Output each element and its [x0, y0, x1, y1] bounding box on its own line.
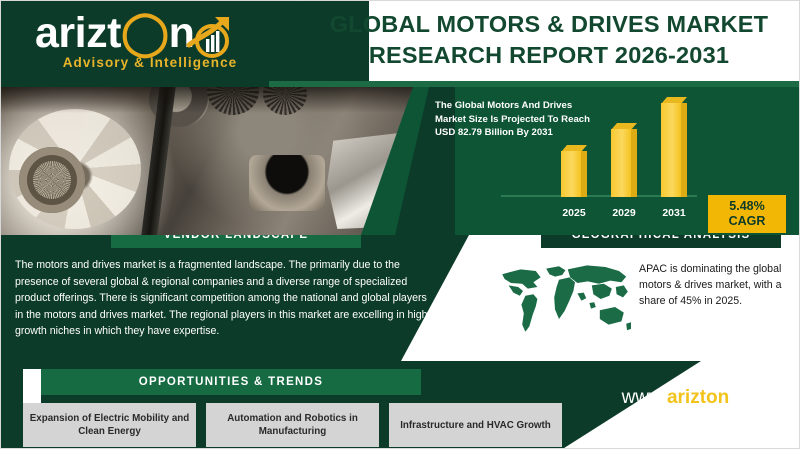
website-url[interactable]: www.arizton.com [601, 387, 791, 409]
opportunity-card[interactable]: Infrastructure and HVAC Growth [389, 403, 562, 447]
opportunity-cards: Expansion of Electric Mobility and Clean… [23, 403, 563, 447]
opportunity-card-label: Infrastructure and HVAC Growth [400, 419, 551, 432]
bar-side-face [631, 129, 637, 197]
world-map [499, 257, 631, 341]
page-title: GLOBAL MOTORS & DRIVES MARKET RESEARCH R… [301, 9, 797, 71]
photo-cylinder [249, 155, 325, 211]
bar-label: 2029 [603, 207, 645, 219]
title-line-1: GLOBAL MOTORS & DRIVES MARKET [301, 9, 797, 40]
bar-2029: 2029 [611, 129, 637, 197]
bar-front-face [611, 129, 631, 197]
photo-top-shadow [1, 87, 431, 113]
vendor-landscape-banner: VENDOR LANDSCAPE [111, 235, 361, 248]
arrow-chart-circle-icon [183, 13, 239, 65]
bar-side-face [681, 103, 687, 197]
opportunity-card[interactable]: Expansion of Electric Mobility and Clean… [23, 403, 196, 447]
bar-2031: 2031 [661, 103, 687, 197]
photo-fan-hub [19, 147, 85, 213]
url-prefix: www. [622, 387, 667, 408]
geographical-analysis-text: APAC is dominating the global motors & d… [639, 261, 789, 309]
bar-2025: 2025 [561, 151, 587, 197]
middle-band: VENDOR LANDSCAPE GEOGRAPHICAL ANALYSIS T… [1, 235, 800, 361]
bar-side-face [581, 151, 587, 197]
url-brand: arizton [667, 387, 729, 408]
opportunities-banner-label: OPPORTUNITIES & TRENDS [139, 376, 324, 388]
title-line-2: RESEARCH REPORT 2026-2031 [301, 40, 797, 71]
motor-engine-photo [1, 87, 431, 235]
logo-wordmark: arizt◯n [35, 9, 275, 57]
infographic-poster: arizt◯n Advisory & Intelligence GLOBAL M… [0, 0, 800, 449]
bottom-band: OPPORTUNITIES & TRENDS Expansion of Elec… [1, 361, 800, 449]
header: arizt◯n Advisory & Intelligence GLOBAL M… [1, 1, 800, 87]
geographical-analysis-banner: GEOGRAPHICAL ANALYSIS [541, 235, 781, 248]
market-size-bar-chart: 2025 2029 2031 [501, 99, 701, 223]
geo-banner-label: GEOGRAPHICAL ANALYSIS [572, 235, 751, 241]
bar-front-face [661, 103, 681, 197]
brand-logo[interactable]: arizt◯n Advisory & Intelligence [35, 9, 275, 81]
opportunities-banner: OPPORTUNITIES & TRENDS [41, 369, 421, 395]
url-suffix: .com [729, 387, 770, 408]
cagr-value: 5.48% [729, 199, 764, 214]
opportunity-card[interactable]: Automation and Robotics in Manufacturing [206, 403, 379, 447]
opportunity-card-label: Expansion of Electric Mobility and Clean… [29, 412, 190, 438]
vendor-landscape-text: The motors and drives market is a fragme… [15, 257, 435, 340]
opportunities-notch [23, 369, 41, 403]
bar-label: 2025 [553, 207, 595, 219]
cagr-label: CAGR [729, 214, 766, 229]
vendor-banner-label: VENDOR LANDSCAPE [164, 235, 309, 241]
cagr-badge: 5.48% CAGR [708, 195, 786, 233]
hero-band: The Global Motors And Drives Market Size… [1, 87, 800, 235]
opportunity-card-label: Automation and Robotics in Manufacturing [212, 412, 373, 438]
bar-front-face [561, 151, 581, 197]
bar-label: 2031 [653, 207, 695, 219]
